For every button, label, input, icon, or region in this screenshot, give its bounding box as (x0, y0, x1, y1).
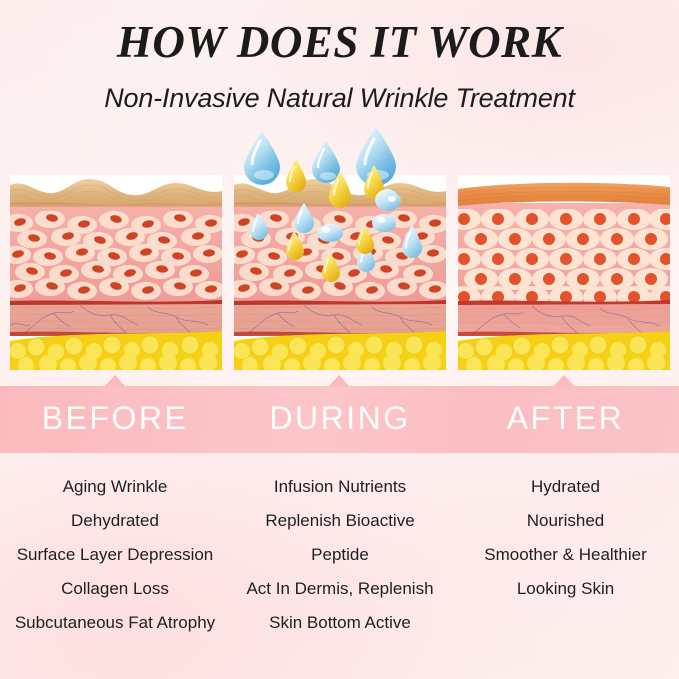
list-item: Aging Wrinkle (0, 470, 230, 504)
skin-cross-section-infusing-icon (234, 175, 446, 370)
stage-banner: BEFORE DURING AFTER (0, 386, 679, 453)
banner-label-during: DURING (227, 400, 453, 437)
banner-label-after: AFTER (452, 400, 679, 437)
skin-diagram-before (10, 175, 222, 370)
list-item: Collagen Loss (0, 572, 230, 606)
panel-before (10, 175, 222, 370)
banner-label-before: BEFORE (0, 400, 230, 437)
list-item: Surface Layer Depression (0, 538, 230, 572)
column-during: Infusion Nutrients Replenish Bioactive P… (227, 470, 453, 640)
list-item: Dehydrated (0, 504, 230, 538)
column-before: Aging Wrinkle Dehydrated Surface Layer D… (0, 470, 230, 640)
notch-during (328, 375, 350, 387)
list-item: Peptide (227, 538, 453, 572)
list-item: Act In Dermis, Replenish (227, 572, 453, 606)
page-subtitle: Non-Invasive Natural Wrinkle Treatment (0, 83, 679, 114)
benefit-columns: Aging Wrinkle Dehydrated Surface Layer D… (0, 470, 679, 645)
column-after: Hydrated Nourished Smoother & Healthier … (452, 470, 679, 606)
list-item: Smoother & Healthier (452, 538, 679, 572)
skin-diagram-after (458, 175, 670, 370)
skin-diagram-during (234, 175, 446, 370)
infographic-page: HOW DOES IT WORK Non-Invasive Natural Wr… (0, 0, 679, 679)
list-item: Looking Skin (452, 572, 679, 606)
page-title: HOW DOES IT WORK (0, 16, 679, 68)
list-item: Infusion Nutrients (227, 470, 453, 504)
notch-before (104, 375, 126, 387)
skin-cross-section-wavy-icon (10, 175, 222, 370)
panel-during (234, 175, 446, 370)
panel-after (458, 175, 670, 370)
list-item: Nourished (452, 504, 679, 538)
skin-cross-section-smooth-icon (458, 175, 670, 370)
notch-after (553, 375, 575, 387)
skin-panels (10, 175, 670, 370)
list-item: Skin Bottom Active (227, 606, 453, 640)
list-item: Subcutaneous Fat Atrophy (0, 606, 230, 640)
list-item: Hydrated (452, 470, 679, 504)
list-item: Replenish Bioactive (227, 504, 453, 538)
